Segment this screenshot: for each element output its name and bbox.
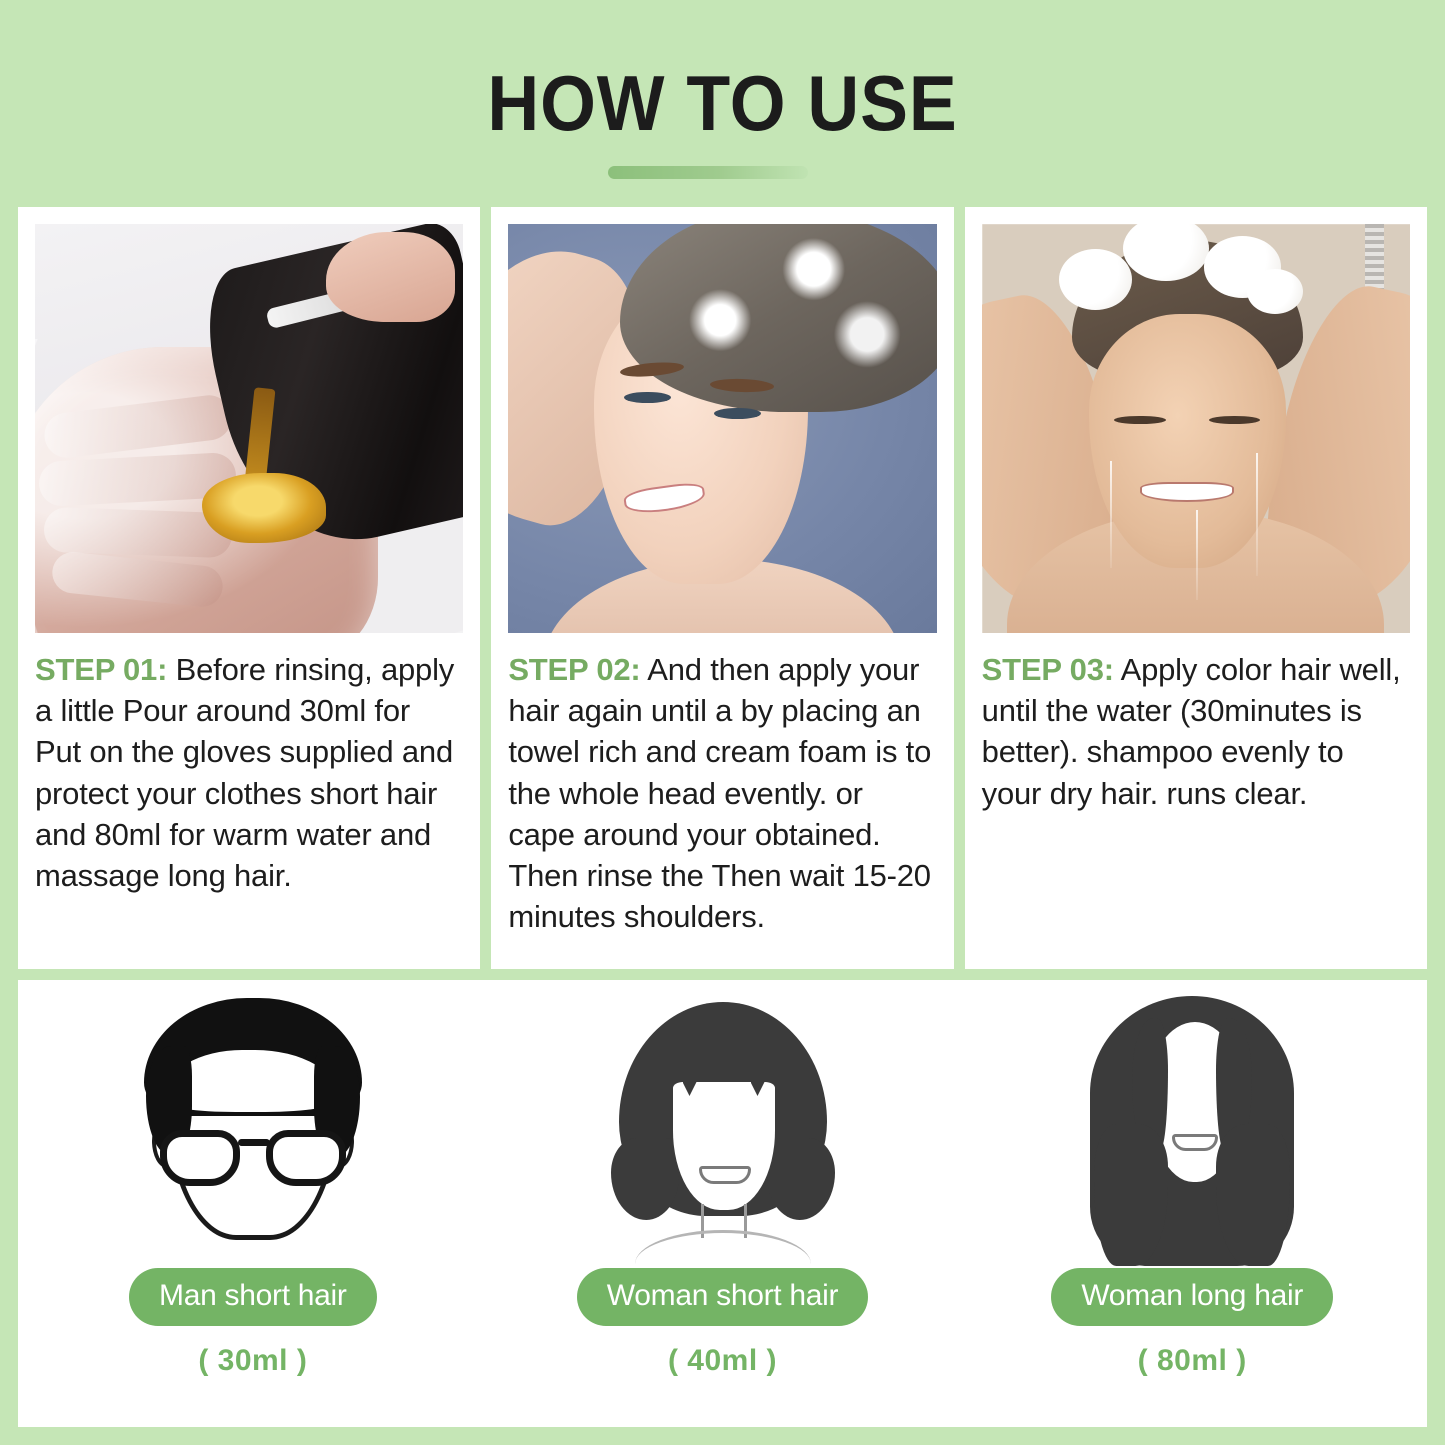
liquid-puddle bbox=[202, 473, 326, 543]
step-03-label: STEP 03: bbox=[982, 652, 1114, 687]
man-short-hair-icon bbox=[142, 998, 364, 1250]
lathered-hair bbox=[620, 224, 937, 412]
shoulders-outline bbox=[635, 1230, 811, 1264]
step-card-02: STEP 02: And then apply your hair again … bbox=[491, 207, 953, 969]
hair-type-label-woman-long[interactable]: Woman long hair bbox=[1051, 1268, 1333, 1326]
how-to-use-infographic: HOW TO USE STEP 01: Before rinsing, a bbox=[0, 0, 1445, 1445]
water-drip bbox=[1196, 510, 1198, 600]
hair-tress-left bbox=[1094, 1124, 1168, 1266]
step-01-photo bbox=[35, 224, 463, 633]
smiling-mouth bbox=[699, 1166, 751, 1184]
woman-long-hair-icon bbox=[1076, 994, 1308, 1276]
woman-long-hair-art bbox=[957, 992, 1427, 1260]
step-02-photo bbox=[508, 224, 936, 633]
hair-type-label-man-short[interactable]: Man short hair bbox=[129, 1268, 377, 1326]
man-short-hair-art bbox=[18, 992, 488, 1260]
hair-type-woman-long: Woman long hair ( 80ml ) bbox=[957, 980, 1427, 1427]
step-card-01: STEP 01: Before rinsing, apply a little … bbox=[18, 207, 480, 969]
woman-short-hair-art bbox=[488, 992, 958, 1260]
page-title: HOW TO USE bbox=[58, 58, 1387, 149]
water-drip bbox=[1110, 461, 1112, 567]
hair-type-label-woman-short[interactable]: Woman short hair bbox=[577, 1268, 868, 1326]
header: HOW TO USE bbox=[0, 0, 1445, 207]
glasses-bridge bbox=[238, 1139, 270, 1146]
smiling-mouth bbox=[1172, 1134, 1218, 1151]
shampoo-foam bbox=[1247, 269, 1303, 314]
hair-type-volume-woman-short: ( 40ml ) bbox=[668, 1344, 777, 1378]
step-01-body: Before rinsing, apply a little Pour arou… bbox=[35, 652, 454, 893]
hair-type-woman-short: Woman short hair ( 40ml ) bbox=[488, 980, 958, 1427]
hair-type-volume-woman-long: ( 80ml ) bbox=[1138, 1344, 1247, 1378]
step-02-label: STEP 02: bbox=[508, 652, 640, 687]
hair-types-card: Man short hair ( 30ml ) Woman short hair bbox=[18, 980, 1427, 1427]
water-drip bbox=[1256, 453, 1258, 576]
glasses-lens-right bbox=[266, 1130, 346, 1186]
smiling-mouth bbox=[1140, 482, 1234, 502]
step-03-text: STEP 03: Apply color hair well, until th… bbox=[982, 649, 1410, 814]
hair-type-volume-man-short: ( 30ml ) bbox=[198, 1344, 307, 1378]
eye bbox=[624, 392, 671, 403]
step-01-label: STEP 01: bbox=[35, 652, 167, 687]
hair-flip-left bbox=[611, 1138, 679, 1220]
title-divider bbox=[608, 166, 808, 179]
woman-short-hair-icon bbox=[607, 998, 839, 1256]
step-01-text: STEP 01: Before rinsing, apply a little … bbox=[35, 649, 463, 896]
glasses-icon bbox=[160, 1130, 346, 1186]
step-03-photo bbox=[982, 224, 1410, 633]
step-02-text: STEP 02: And then apply your hair again … bbox=[508, 649, 936, 938]
step-card-03: STEP 03: Apply color hair well, until th… bbox=[965, 207, 1427, 969]
thumb bbox=[326, 232, 454, 322]
shampoo-foam bbox=[1059, 249, 1132, 310]
step-02-body: And then apply your hair again until a b… bbox=[508, 652, 931, 934]
hair-tress-right bbox=[1216, 1124, 1290, 1266]
steps-row: STEP 01: Before rinsing, apply a little … bbox=[18, 207, 1427, 969]
glasses-lens-left bbox=[160, 1130, 240, 1186]
hair-type-man-short: Man short hair ( 30ml ) bbox=[18, 980, 488, 1427]
hair-flip-right bbox=[767, 1138, 835, 1220]
